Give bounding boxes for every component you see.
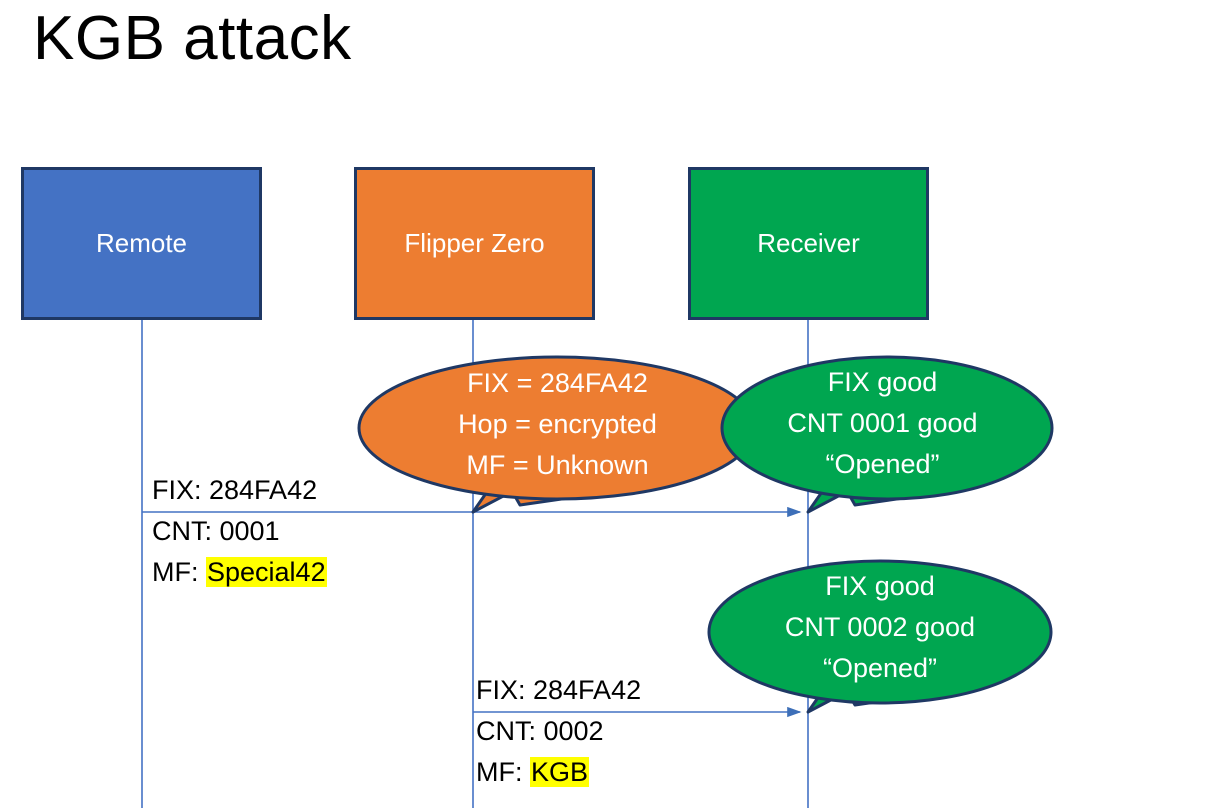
actor-box-remote[interactable]: Remote	[21, 167, 262, 320]
message-2-cnt: CNT: 0002	[476, 711, 641, 752]
actor-box-receiver[interactable]: Receiver	[688, 167, 929, 320]
message-2-mf-value: KGB	[530, 757, 589, 787]
slide-canvas: KGB attack	[0, 0, 1218, 808]
message-1-cnt: CNT: 0001	[152, 511, 327, 552]
message-1-mf-value: Special42	[206, 557, 327, 587]
actor-label-receiver: Receiver	[757, 228, 860, 259]
message-1-fix: FIX: 284FA42	[152, 470, 327, 511]
message-1-mf-prefix: MF:	[152, 557, 206, 587]
message-2-mf-prefix: MF:	[476, 757, 530, 787]
message-label-2: FIX: 284FA42 CNT: 0002 MF: KGB	[476, 670, 641, 793]
actor-label-remote: Remote	[96, 228, 187, 259]
message-label-1: FIX: 284FA42 CNT: 0001 MF: Special42	[152, 470, 327, 593]
callout-receiver-accept-1	[722, 357, 1052, 512]
message-2-fix: FIX: 284FA42	[476, 670, 641, 711]
actor-label-flipper-zero: Flipper Zero	[404, 228, 544, 259]
callout-receiver-accept-2	[709, 561, 1051, 712]
message-1-mf: MF: Special42	[152, 552, 327, 593]
actor-box-flipper-zero[interactable]: Flipper Zero	[354, 167, 595, 320]
message-2-mf: MF: KGB	[476, 752, 641, 793]
callout-bubble-flipper	[359, 357, 755, 499]
callout-bubble-receiver-2	[709, 561, 1051, 703]
callout-flipper-sniff	[359, 357, 755, 512]
callout-bubble-receiver-1	[722, 357, 1052, 499]
